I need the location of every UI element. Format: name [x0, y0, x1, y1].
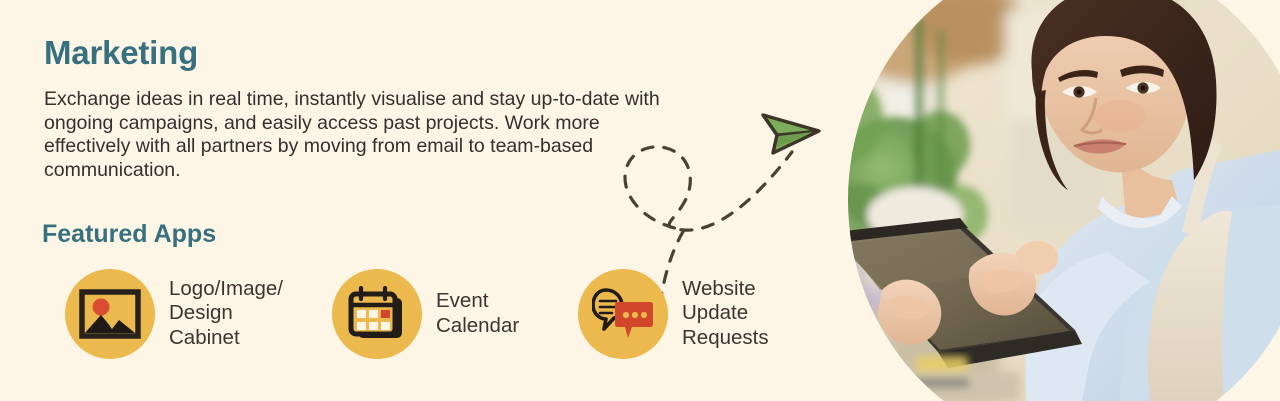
app-item-website-update-requests[interactable]: Website Update Requests [578, 266, 769, 361]
app-icon-circle [65, 269, 155, 359]
featured-apps-list: Logo/Image/ Design Cabinet [0, 266, 840, 366]
image-picture-icon [79, 289, 141, 339]
paper-plane-icon [757, 105, 827, 165]
app-label: Website Update Requests [682, 277, 769, 351]
app-item-event-calendar[interactable]: Event Calendar [332, 266, 519, 361]
app-icon-circle [578, 269, 668, 359]
app-icon-circle [332, 269, 422, 359]
calendar-icon [348, 286, 406, 342]
app-item-logo-image-design-cabinet[interactable]: Logo/Image/ Design Cabinet [65, 266, 283, 361]
chat-bubbles-icon [592, 288, 654, 340]
hero-photo [820, 0, 1280, 401]
hero-photo-clip [820, 0, 1280, 401]
marketing-banner: Marketing Exchange ideas in real time, i… [0, 0, 1280, 401]
app-label: Logo/Image/ Design Cabinet [169, 277, 283, 351]
text-content: Marketing Exchange ideas in real time, i… [0, 0, 840, 401]
description-text: Exchange ideas in real time, instantly v… [44, 88, 684, 182]
app-label: Event Calendar [436, 289, 519, 338]
featured-apps-heading: Featured Apps [42, 219, 216, 249]
hero-photo-illustration [820, 0, 1280, 401]
page-title: Marketing [44, 34, 198, 72]
